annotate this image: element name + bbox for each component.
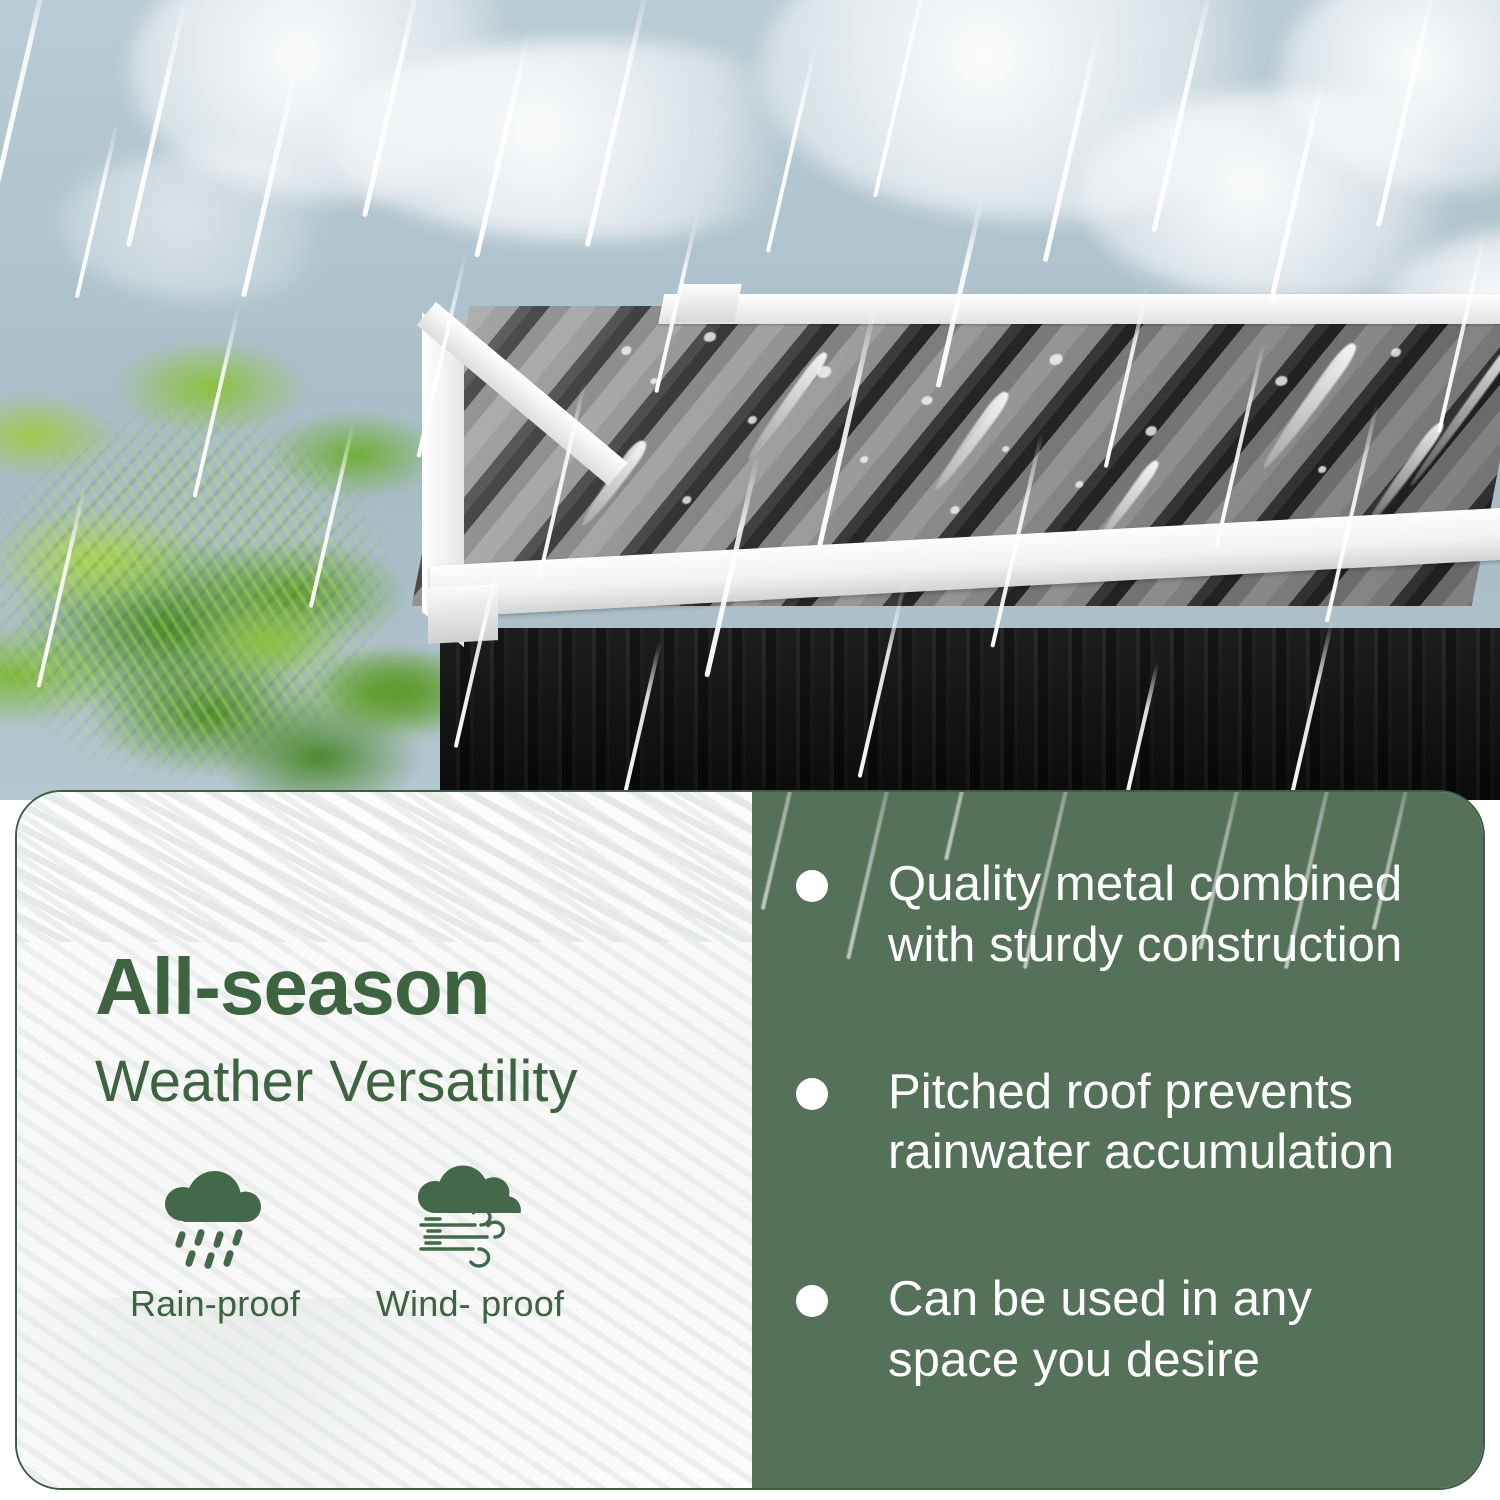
- feature-panel-right: Quality metal combined with sturdy const…: [752, 792, 1483, 1488]
- roof-ridge-cap: [674, 284, 741, 322]
- feature-label-wind-proof: Wind- proof: [335, 1283, 605, 1325]
- roof-ridge-trim: [658, 294, 1500, 324]
- feature-label-rain-proof: Rain-proof: [95, 1283, 335, 1325]
- benefit-text: Quality metal combined with sturdy const…: [888, 854, 1443, 976]
- feature-icon-row: Rain-proof: [95, 1166, 752, 1325]
- panel-heading: All-season: [95, 947, 752, 1027]
- feature-panel: All-season Weather Versatility: [15, 790, 1485, 1490]
- cloud-shape: [60, 150, 360, 300]
- bullet-dot-icon: [796, 870, 828, 902]
- benefit-text: Can be used in any space you desire: [888, 1269, 1443, 1391]
- rain-cloud-icon: [95, 1166, 335, 1271]
- bullet-dot-icon: [796, 1078, 828, 1110]
- wind-cloud-icon: [335, 1166, 605, 1271]
- shed-roof: [410, 290, 1500, 650]
- feature-panel-left: All-season Weather Versatility: [17, 792, 752, 1488]
- feature-rain-proof: Rain-proof: [95, 1166, 335, 1325]
- benefit-item: Can be used in any space you desire: [796, 1269, 1443, 1391]
- benefit-item: Pitched roof prevents rainwater accumula…: [796, 1062, 1443, 1184]
- feature-wind-proof: Wind- proof: [335, 1166, 605, 1325]
- panel-subheading: Weather Versatility: [95, 1049, 752, 1116]
- benefit-list: Quality metal combined with sturdy const…: [796, 854, 1443, 1391]
- shed-wall: [440, 628, 1500, 800]
- product-feature-graphic: All-season Weather Versatility: [0, 0, 1500, 1500]
- hero-photo: [0, 0, 1500, 800]
- bullet-dot-icon: [796, 1285, 828, 1317]
- benefit-item: Quality metal combined with sturdy const…: [796, 854, 1443, 976]
- benefit-text: Pitched roof prevents rainwater accumula…: [888, 1062, 1443, 1184]
- roof-eave-corner: [428, 584, 498, 644]
